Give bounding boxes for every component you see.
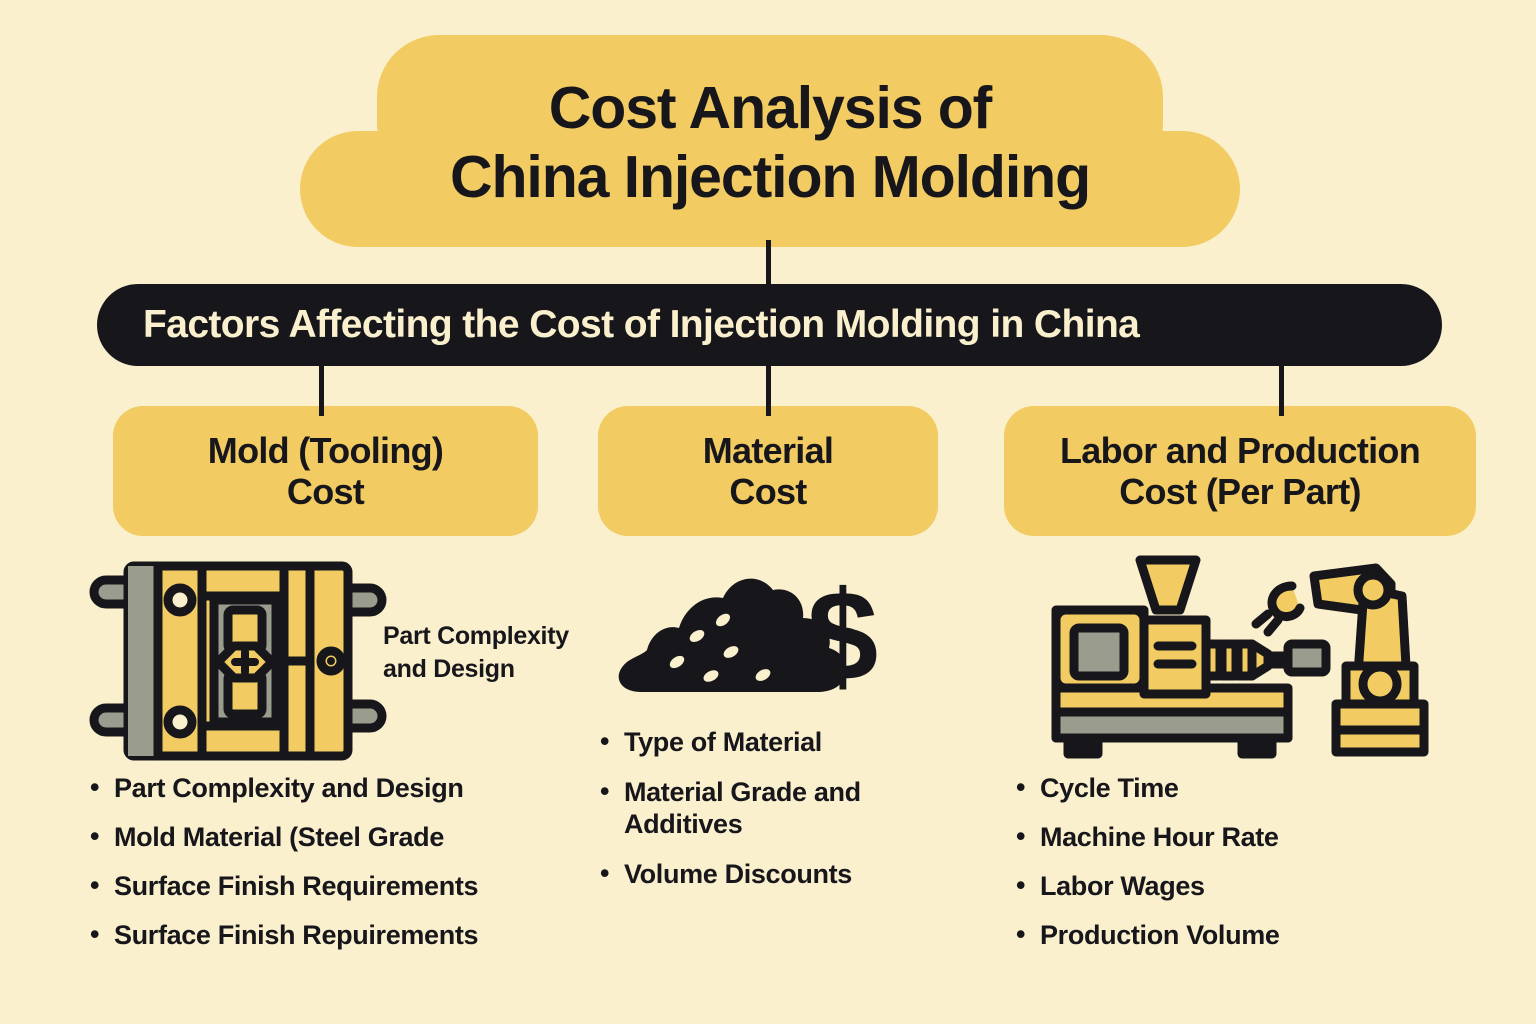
category-header-line-2: Cost [729,471,806,512]
list-item: Surface Finish Repuirements [88,919,608,951]
section-banner-label: Factors Affecting the Cost of Injection … [97,303,1139,347]
floating-label-part-complexity: Part Complexity and Design [383,620,633,687]
page-title-line-2: China Injection Molding [450,147,1090,208]
bullet-list-labor-production-cost: Cycle Time Machine Hour Rate Labor Wages… [1014,772,1444,969]
section-banner: Factors Affecting the Cost of Injection … [97,284,1442,366]
list-item: Surface Finish Requirements [88,870,608,902]
list-item: Material Grade and Additives [598,776,958,840]
connector-banner-to-column-3 [1279,364,1284,416]
column-labor-production-cost: Labor and Production Cost (Per Part) [1004,406,1476,536]
page-title: Cost Analysis of China Injection Molding [300,35,1240,247]
category-header-material-cost: Material Cost [598,406,938,536]
category-header-line-2: Cost (Per Part) [1119,471,1361,512]
category-header-line-1: Mold (Tooling) [208,430,443,471]
floating-label-line-2: and Design [383,653,633,686]
list-item: Volume Discounts [598,858,958,890]
column-mold-tooling-cost: Mold (Tooling) Cost [113,406,538,536]
connector-banner-to-column-2 [766,364,771,416]
list-item: Labor Wages [1014,870,1444,902]
plastic-pellet-pile-dollar-icon: $ [605,560,885,710]
category-header-line-2: Cost [287,471,364,512]
injection-mold-tool-icon [88,556,388,771]
list-item: Part Complexity and Design [88,772,608,804]
category-header-mold-tooling-cost: Mold (Tooling) Cost [113,406,538,536]
list-item: Production Volume [1014,919,1444,951]
bullet-list-material-cost: Type of Material Material Grade and Addi… [598,726,958,909]
column-material-cost: Material Cost [598,406,938,536]
svg-text:$: $ [807,565,878,705]
category-header-labor-production-cost: Labor and Production Cost (Per Part) [1004,406,1476,536]
list-item: Cycle Time [1014,772,1444,804]
list-item: Machine Hour Rate [1014,821,1444,853]
category-header-line-1: Labor and Production [1060,430,1420,471]
title-banner: Cost Analysis of China Injection Molding [300,35,1240,247]
list-item: Mold Material (Steel Grade [88,821,608,853]
category-header-line-1: Material [703,430,833,471]
bullet-list-mold-tooling-cost: Part Complexity and Design Mold Material… [88,772,608,969]
page-title-line-1: Cost Analysis of [549,78,991,139]
floating-label-line-1: Part Complexity [383,620,633,653]
list-item: Type of Material [598,726,958,758]
injection-molding-machine-robot-icon [1046,548,1441,778]
connector-banner-to-column-1 [319,364,324,416]
